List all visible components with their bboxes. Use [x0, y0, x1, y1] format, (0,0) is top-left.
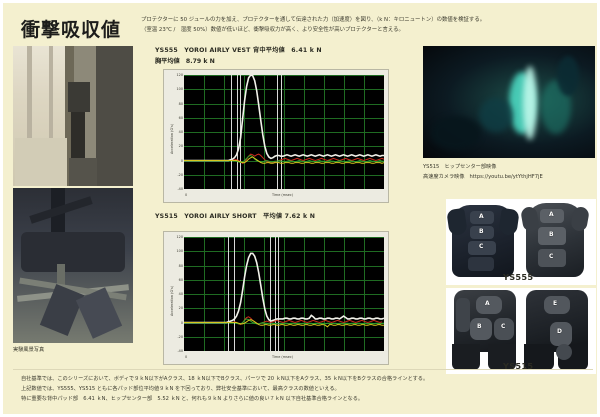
x-axis-origin-tick: 0 [185, 193, 187, 197]
experiment-photo-lower [13, 188, 133, 343]
chart-plot-area-ys555 [184, 75, 384, 189]
footer-line2: 上記数値では、YS555、YS515 ともに各パッド部位平均値９ｋN を下回って… [21, 384, 587, 394]
y-axis-tick: 120 [177, 73, 183, 77]
y-axis-tick: 60 [179, 278, 183, 282]
video-caption: YS515 ヒップセンター部映像 高速度カメラ映像 https://youtu.… [423, 163, 543, 183]
pad-label-b-front: B [479, 228, 484, 235]
chart-plot-area-ys515 [184, 237, 384, 351]
pad-label-d-shorts: D [557, 328, 562, 335]
y-axis-tick: 40 [179, 292, 183, 296]
chart-ys555-title: YS555 YOROI AIRLY VEST 背中平均値 6.41 k N [155, 45, 322, 54]
y-axis-tick: -40 [177, 349, 183, 353]
experiment-photo-column [13, 46, 133, 343]
pad-label-b-back: B [549, 231, 554, 238]
chart-ys555: YS555 YOROI AIRLY VEST 背中平均値 6.41 k N 胸平… [155, 45, 322, 65]
chart-ys515-plot: 120100806040200-20-40Acceleration (G's)T… [163, 231, 389, 365]
video-url-link[interactable]: https://youtu.be/ytYthjHF7jE [469, 174, 542, 180]
chart-ys515: YS515 YOROI AIRLY SHORT 平均値 7.62 k N [155, 211, 315, 220]
page-title: 衝撃吸収値 [21, 15, 121, 42]
chart-series-layer [184, 237, 384, 351]
chart-series-layer [184, 75, 384, 189]
video-caption-label: 高速度カメラ映像 [423, 174, 465, 180]
x-axis-label: Time (msec) [272, 355, 293, 359]
chart-series-impact-white [184, 75, 384, 161]
pad-label-b-shorts: B [477, 323, 482, 330]
footer-divider [13, 369, 593, 370]
highspeed-camera-video[interactable] [423, 46, 595, 158]
x-axis-origin-tick: 0 [185, 355, 187, 359]
video-caption-line1: YS515 ヒップセンター部映像 [423, 163, 543, 173]
y-axis-tick: 0 [181, 321, 183, 325]
y-axis-tick: 120 [177, 235, 183, 239]
pad-label-c-back: C [549, 253, 553, 260]
pad-label-e-shorts: E [553, 300, 557, 307]
header-description-line1: プロテクターに 50 ジュールの力を加え、プロテクターを通して伝達された力（加速… [141, 15, 593, 25]
video-caption-line2: 高速度カメラ映像 https://youtu.be/ytYthjHF7jE [423, 173, 543, 183]
header-description: プロテクターに 50 ジュールの力を加え、プロテクターを通して伝達された力（加速… [141, 15, 593, 35]
document-page: 衝撃吸収値 プロテクターに 50 ジュールの力を加え、プロテクターを通して伝達さ… [0, 0, 600, 417]
pad-label-c-shorts: C [501, 323, 505, 330]
pad-label-a-front: A [479, 213, 484, 220]
chart-ys555-subtitle: 胸平均値 8.79 k N [155, 56, 322, 65]
experiment-photo-caption: 実験風景写真 [13, 346, 44, 353]
y-axis-tick: 40 [179, 130, 183, 134]
y-axis-tick: 60 [179, 116, 183, 120]
experiment-photo-upper [13, 46, 133, 186]
y-axis-tick: -20 [177, 173, 183, 177]
product-name-ys555: YS555 [503, 272, 533, 282]
footer-line3: 特に重要な背中パッド部 6.41 ｋN、ヒップセンター部 5.52 ｋN と、何… [21, 394, 587, 404]
y-axis-tick: -40 [177, 187, 183, 191]
chart-ys515-title: YS515 YOROI AIRLY SHORT 平均値 7.62 k N [155, 211, 315, 220]
y-axis-label: Acceleration (G's) [170, 124, 174, 154]
chart-series-impact-white [184, 253, 384, 322]
y-axis-label: Acceleration (G's) [170, 286, 174, 316]
y-axis-tick: -20 [177, 335, 183, 339]
y-axis-tick: 80 [179, 264, 183, 268]
footer-line1: 自社基準では、このシリーズにおいて、ボディで９ｋN以下がAクラス、18 ｋN以下… [21, 374, 587, 384]
pad-label-a-shorts: A [485, 300, 490, 307]
y-axis-tick: 20 [179, 306, 183, 310]
y-axis-tick: 100 [177, 249, 183, 253]
header-description-line2: （室温 23℃ / 湿度 50%）数値が低いほど、衝撃吸収力が高く、より安全性が… [141, 25, 593, 35]
y-axis-tick: 100 [177, 87, 183, 91]
y-axis-tick: 20 [179, 144, 183, 148]
x-axis-label: Time (msec) [272, 193, 293, 197]
footer-notes: 自社基準では、このシリーズにおいて、ボディで９ｋN以下がAクラス、18 ｋN以下… [21, 374, 587, 404]
y-axis-tick: 80 [179, 102, 183, 106]
pad-label-c-front: C [479, 243, 483, 250]
chart-ys555-plot: 120100806040200-20-40Acceleration (G's)T… [163, 69, 389, 203]
y-axis-tick: 0 [181, 159, 183, 163]
pad-label-a-back: A [549, 211, 554, 218]
